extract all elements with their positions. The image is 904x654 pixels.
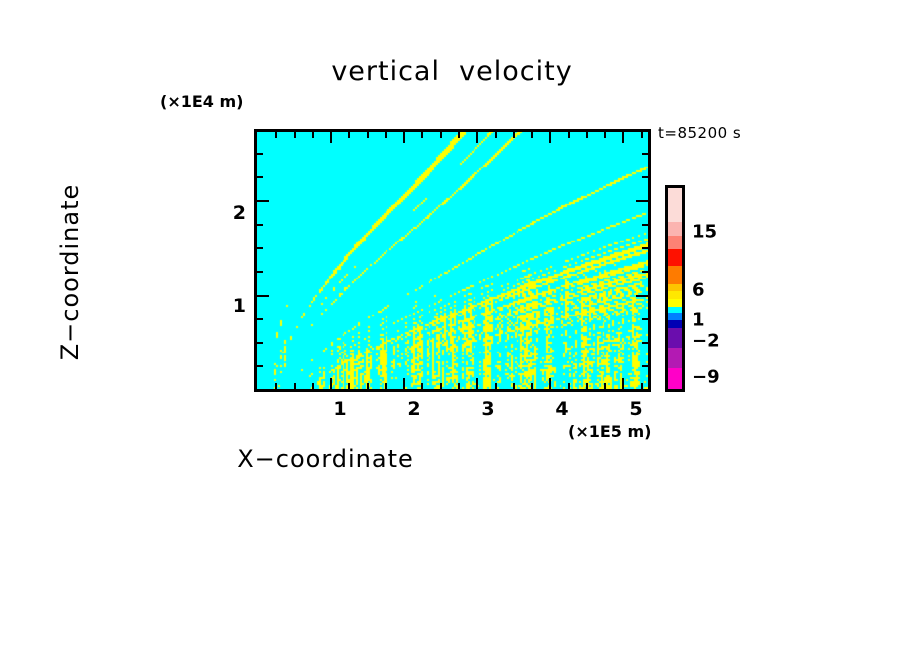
y-tick-label-1: 1	[216, 295, 246, 317]
x-axis-title: X−coordinate	[0, 447, 651, 471]
x-tick-label-4: 4	[555, 398, 568, 420]
page-title: vertical velocity	[0, 58, 904, 85]
colorbar-tick-label-2: 1	[692, 310, 705, 331]
axis-tick	[568, 132, 570, 138]
axis-tick	[549, 378, 551, 389]
axis-tick	[403, 378, 405, 389]
axis-tick	[586, 132, 588, 138]
axis-tick	[604, 383, 606, 389]
colorbar-band-12	[668, 348, 682, 368]
axis-tick	[636, 295, 648, 297]
contour-plot-area	[254, 129, 651, 392]
axis-tick	[495, 132, 497, 138]
axis-tick	[257, 318, 263, 320]
axis-tick	[549, 132, 551, 143]
axis-tick	[312, 383, 314, 389]
colorbar-band-3	[668, 249, 682, 266]
axis-tick	[330, 378, 332, 389]
axis-tick	[257, 271, 263, 273]
x-axis-unit-label: (×1E5 m)	[568, 424, 651, 440]
axis-tick	[294, 132, 296, 138]
axis-tick	[642, 153, 648, 155]
axis-tick	[275, 132, 277, 138]
axis-tick	[257, 295, 269, 297]
axis-tick	[367, 383, 369, 389]
y-axis-title: Z−coordinate	[58, 142, 82, 402]
axis-tick	[330, 132, 332, 143]
axis-tick	[641, 383, 643, 389]
axis-tick	[642, 224, 648, 226]
axis-tick	[513, 383, 515, 389]
velocity-field-canvas	[257, 132, 648, 389]
axis-tick	[257, 153, 263, 155]
axis-tick	[257, 176, 263, 178]
axis-tick	[348, 383, 350, 389]
x-tick-label-5: 5	[629, 398, 642, 420]
y-axis-unit-label: (×1E4 m)	[160, 94, 243, 110]
time-annotation: t=85200 s	[658, 126, 741, 141]
axis-tick	[476, 378, 478, 389]
colorbar-band-0	[668, 188, 682, 222]
axis-tick	[440, 132, 442, 138]
axis-tick	[385, 383, 387, 389]
axis-tick	[257, 365, 263, 367]
axis-tick	[586, 383, 588, 389]
axis-tick	[495, 383, 497, 389]
colorbar-band-13	[668, 368, 682, 389]
axis-tick	[257, 342, 263, 344]
axis-tick	[642, 342, 648, 344]
colorbar-band-2	[668, 236, 682, 249]
axis-tick	[458, 383, 460, 389]
axis-tick	[257, 200, 269, 202]
axis-tick	[440, 383, 442, 389]
axis-tick	[421, 132, 423, 138]
colorbar-band-5	[668, 284, 682, 291]
axis-tick	[531, 383, 533, 389]
x-tick-label-3: 3	[481, 398, 494, 420]
axis-tick	[636, 200, 648, 202]
x-tick-label-1: 1	[333, 398, 346, 420]
axis-tick	[403, 132, 405, 143]
axis-tick	[642, 247, 648, 249]
axis-tick	[622, 378, 624, 389]
axis-tick	[257, 224, 263, 226]
axis-tick	[641, 132, 643, 138]
axis-tick	[604, 132, 606, 138]
axis-tick	[642, 365, 648, 367]
axis-tick	[458, 132, 460, 138]
colorbar-band-11	[668, 328, 682, 348]
axis-tick	[568, 383, 570, 389]
colorbar-band-6	[668, 291, 682, 298]
axis-tick	[275, 383, 277, 389]
colorbar-tick-label-0: 15	[692, 222, 717, 243]
y-tick-label-2: 2	[216, 202, 246, 224]
axis-tick	[294, 383, 296, 389]
colorbar-band-9	[668, 313, 682, 320]
axis-tick	[257, 247, 263, 249]
axis-tick	[531, 132, 533, 138]
colorbar-tick-label-3: −2	[692, 331, 720, 352]
colorbar-band-7	[668, 299, 682, 307]
axis-tick	[642, 318, 648, 320]
colorbar-band-4	[668, 266, 682, 284]
colorbar-tick-label-1: 6	[692, 280, 705, 301]
axis-tick	[367, 132, 369, 138]
axis-tick	[385, 132, 387, 138]
colorbar-band-1	[668, 222, 682, 236]
colorbar	[665, 185, 685, 392]
axis-tick	[642, 176, 648, 178]
axis-tick	[312, 132, 314, 138]
axis-tick	[642, 271, 648, 273]
colorbar-tick-label-4: −9	[692, 367, 720, 388]
x-tick-label-2: 2	[407, 398, 420, 420]
figure-root: vertical velocity (×1E4 m) t=85200 s 1 2…	[0, 0, 904, 654]
axis-tick	[348, 132, 350, 138]
colorbar-band-10	[668, 320, 682, 328]
axis-tick	[622, 132, 624, 143]
axis-tick	[476, 132, 478, 143]
axis-tick	[421, 383, 423, 389]
axis-tick	[513, 132, 515, 138]
